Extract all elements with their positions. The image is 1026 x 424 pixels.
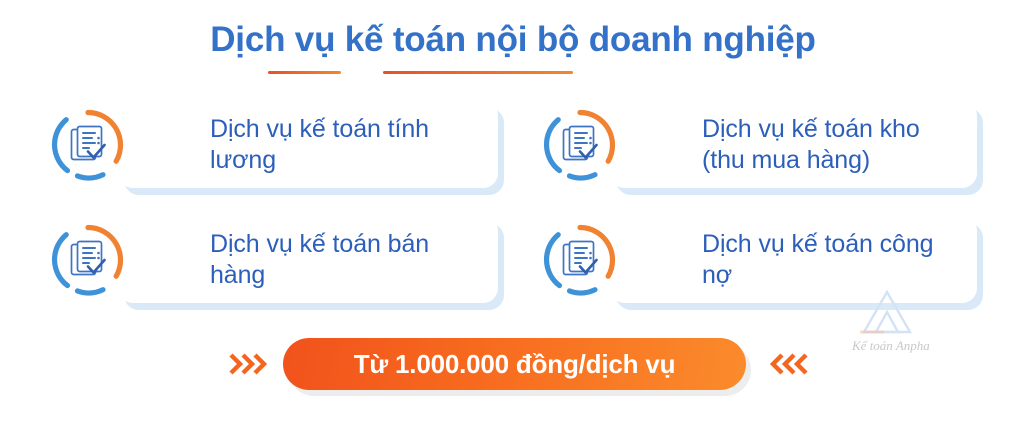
title-underline-group [0, 71, 1026, 75]
document-check-icon [539, 219, 621, 301]
service-card-label: Dịch vụ kế toán tính lương [210, 114, 484, 176]
service-card-content: Dịch vụ kế toán tính lương [210, 101, 484, 188]
service-card-content: Dịch vụ kế toán bán hàng [210, 216, 484, 303]
service-card-label: Dịch vụ kế toán kho (thu mua hàng) [702, 114, 920, 176]
price-banner[interactable]: Từ 1.000.000 đồng/dịch vụ [283, 338, 746, 390]
service-card-label-line1: Dịch vụ kế toán công nợ [702, 230, 933, 289]
service-card-label-line1: Dịch vụ kế toán kho [702, 115, 920, 143]
service-card-label-line1: Dịch vụ kế toán bán hàng [210, 230, 429, 289]
service-card-label: Dịch vụ kế toán bán hàng [210, 229, 484, 291]
chevrons-left-icon [765, 346, 811, 382]
service-card-warehouse[interactable]: Dịch vụ kế toán kho (thu mua hàng) [610, 101, 977, 188]
page-title: Dịch vụ kế toán nội bộ doanh nghiệp [0, 18, 1026, 62]
price-banner-row: Từ 1.000.000 đồng/dịch vụ [0, 338, 1026, 400]
chevrons-right-icon [226, 346, 272, 382]
document-check-icon [539, 104, 621, 186]
service-card-payroll[interactable]: Dịch vụ kế toán tính lương [118, 101, 498, 188]
service-card-label-line2: (thu mua hàng) [702, 145, 920, 176]
document-check-icon [47, 104, 129, 186]
page-title-wrap: Dịch vụ kế toán nội bộ doanh nghiệp [0, 18, 1026, 62]
service-card-content: Dịch vụ kế toán kho (thu mua hàng) [702, 101, 963, 188]
service-card-label: Dịch vụ kế toán công nợ [702, 229, 963, 291]
price-banner-text: Từ 1.000.000 đồng/dịch vụ [354, 349, 676, 380]
title-underline-segment-left [268, 71, 341, 74]
service-card-label-line1: Dịch vụ kế toán tính lương [210, 115, 429, 174]
document-check-icon [47, 219, 129, 301]
title-underline-segment-right [383, 71, 573, 74]
anpha-triangle-logo-icon [864, 292, 910, 332]
service-card-sales[interactable]: Dịch vụ kế toán bán hàng [118, 216, 498, 303]
